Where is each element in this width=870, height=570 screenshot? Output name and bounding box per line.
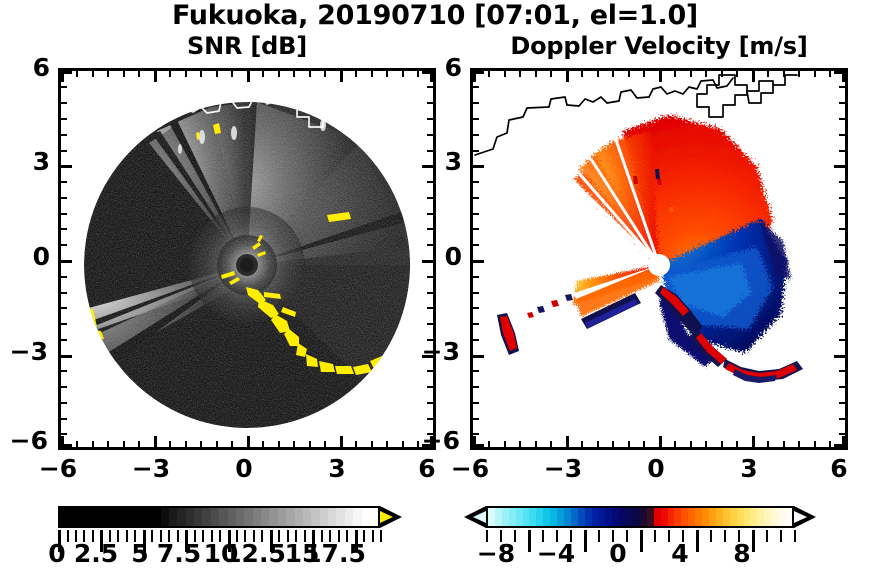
dop-ytick-right-minor <box>839 228 845 230</box>
cbar-dop-label-2: 0 <box>583 540 653 568</box>
dop-ytick-right-minor <box>839 402 845 404</box>
snr-xtick-top-minor <box>138 71 140 77</box>
dop-ytick-right-minor <box>839 276 845 278</box>
snr-xtick-top-major <box>340 71 343 82</box>
snr-ytick-minor <box>61 276 67 278</box>
dop-ytick-major <box>473 355 484 358</box>
dop-ytick-right-minor <box>839 292 845 294</box>
snr-xtick-top-minor <box>402 71 404 77</box>
colorbar-tick-minor <box>380 530 382 542</box>
dop-xtick-top-minor <box>519 71 521 77</box>
snr-ytick-right-minor <box>427 276 433 278</box>
snr-xtick-minor <box>216 441 218 447</box>
snr-xtick-top-major <box>247 71 250 82</box>
dop-xtick-top-major <box>659 71 662 82</box>
snr-ytick-minor <box>61 118 67 120</box>
dop-xtick-top-minor <box>504 71 506 77</box>
snr-ytick-minor <box>61 370 67 372</box>
snr-ytick-minor <box>61 213 67 215</box>
dop-ytick-right-major <box>834 355 845 358</box>
dop-ytick-minor <box>473 386 479 388</box>
dop-ytick-major <box>473 260 484 263</box>
panel-title-snr: SNR [dB] <box>58 33 436 59</box>
snr-ytick-minor <box>61 433 67 435</box>
dop-xtick-minor <box>798 441 800 447</box>
doppler-plot-area <box>473 71 845 447</box>
dop-ytick-minor <box>473 86 479 88</box>
dop-xtick-minor <box>488 441 490 447</box>
snr-ytick-right-minor <box>427 197 433 199</box>
dop-xtick-top-minor <box>674 71 676 77</box>
dop-ytick-right-minor <box>839 244 845 246</box>
dop-xtick-minor <box>504 441 506 447</box>
dop-ytick-minor <box>473 276 479 278</box>
snr-xtick-minor <box>107 441 109 447</box>
snr-xtick-top-minor <box>123 71 125 77</box>
snr-ytick-major <box>61 165 72 168</box>
dop-ylabel-3: −3 <box>412 338 460 366</box>
snr-xtick-top-minor <box>185 71 187 77</box>
snr-ytick-right-minor <box>427 134 433 136</box>
snr-ylabel-2: 0 <box>2 243 50 271</box>
dop-ytick-right-major <box>834 444 845 447</box>
dop-ylabel-2: 0 <box>414 243 462 271</box>
colorbar-tick-minor <box>372 530 374 542</box>
snr-ytick-minor <box>61 244 67 246</box>
dop-ylabel-1: 3 <box>414 148 462 176</box>
snr-ytick-right-minor <box>427 118 433 120</box>
snr-xtick-minor <box>293 441 295 447</box>
figure-canvas: Fukuoka, 20190710 [07:01, el=1.0] SNR [d… <box>0 0 870 570</box>
dop-ytick-minor <box>473 228 479 230</box>
dop-ytick-minor <box>473 118 479 120</box>
snr-ytick-major <box>61 71 72 74</box>
dop-ytick-right-minor <box>839 150 845 152</box>
snr-xtick-top-minor <box>371 71 373 77</box>
snr-ytick-minor <box>61 197 67 199</box>
dop-ytick-minor <box>473 418 479 420</box>
dop-ytick-minor <box>473 402 479 404</box>
snr-xtick-top-minor <box>107 71 109 77</box>
snr-xtick-top-major <box>154 71 157 82</box>
snr-xtick-top-minor <box>293 71 295 77</box>
cbar-snr-label-7: 17.5 <box>300 540 370 568</box>
dop-xtick-top-minor <box>597 71 599 77</box>
snr-ylabel-3: −3 <box>0 338 48 366</box>
snr-xtick-minor <box>262 441 264 447</box>
snr-ytick-minor <box>61 386 67 388</box>
dop-ytick-right-minor <box>839 323 845 325</box>
dop-xtick-top-minor <box>705 71 707 77</box>
dop-xtick-top-minor <box>612 71 614 77</box>
dop-xlabel-0: −6 <box>440 455 500 483</box>
snr-ylabel-1: 3 <box>2 148 50 176</box>
snr-xlabel-3: 3 <box>307 455 367 483</box>
snr-xtick-minor <box>76 441 78 447</box>
snr-ytick-right-minor <box>427 213 433 215</box>
snr-ytick-minor <box>61 402 67 404</box>
snr-xtick-top-minor <box>200 71 202 77</box>
snr-ytick-minor <box>61 418 67 420</box>
snr-xtick-major <box>247 436 250 447</box>
doppler-cone-of-silence <box>648 254 670 276</box>
colorbar-doppler[interactable] <box>464 504 816 530</box>
snr-xtick-minor <box>309 441 311 447</box>
dop-xtick-top-minor <box>721 71 723 77</box>
dop-xtick-top-minor <box>581 71 583 77</box>
snr-ytick-minor <box>61 102 67 104</box>
snr-ytick-minor <box>61 339 67 341</box>
dop-ytick-major <box>473 444 484 447</box>
snr-ytick-right-minor <box>427 181 433 183</box>
snr-xtick-minor <box>278 441 280 447</box>
snr-ytick-major <box>61 444 72 447</box>
dop-ytick-right-minor <box>839 433 845 435</box>
snr-xtick-minor <box>200 441 202 447</box>
dop-ylabel-4: −6 <box>412 427 460 455</box>
dop-xtick-minor <box>535 441 537 447</box>
snr-ytick-right-minor <box>427 102 433 104</box>
dop-xtick-minor <box>612 441 614 447</box>
snr-xtick-minor <box>185 441 187 447</box>
panel-title-doppler: Doppler Velocity [m/s] <box>470 33 848 59</box>
dop-ytick-minor <box>473 244 479 246</box>
snr-xtick-major <box>340 436 343 447</box>
snr-xtick-minor <box>355 441 357 447</box>
dop-ytick-minor <box>473 339 479 341</box>
dop-ytick-right-major <box>834 165 845 168</box>
dop-xtick-major <box>566 436 569 447</box>
dop-xtick-minor <box>628 441 630 447</box>
dop-xtick-top-major <box>566 71 569 82</box>
snr-xtick-minor <box>92 441 94 447</box>
dop-xtick-top-minor <box>628 71 630 77</box>
dop-ytick-right-minor <box>839 213 845 215</box>
dop-xtick-top-minor <box>643 71 645 77</box>
dop-xtick-top-minor <box>535 71 537 77</box>
page-title: Fukuoka, 20190710 [07:01, el=1.0] <box>0 0 870 32</box>
colorbar-snr[interactable] <box>58 504 406 530</box>
snr-ytick-minor <box>61 228 67 230</box>
dop-xtick-top-minor <box>690 71 692 77</box>
dop-ytick-right-major <box>834 71 845 74</box>
dop-xtick-top-minor <box>783 71 785 77</box>
dop-xtick-top-minor <box>550 71 552 77</box>
snr-xtick-minor <box>169 441 171 447</box>
snr-xtick-minor <box>138 441 140 447</box>
dop-xtick-top-minor <box>829 71 831 77</box>
snr-xtick-top-minor <box>278 71 280 77</box>
dop-ylabel-0: 6 <box>414 54 462 82</box>
snr-xtick-top-minor <box>386 71 388 77</box>
dop-xtick-top-minor <box>814 71 816 77</box>
dop-ytick-right-minor <box>839 370 845 372</box>
snr-ytick-minor <box>61 323 67 325</box>
snr-ytick-major <box>61 260 72 263</box>
dop-ytick-right-minor <box>839 102 845 104</box>
dop-xtick-minor <box>767 441 769 447</box>
dop-ytick-right-minor <box>839 197 845 199</box>
dop-ytick-right-minor <box>839 386 845 388</box>
snr-xtick-minor <box>371 441 373 447</box>
dop-ytick-minor <box>473 150 479 152</box>
dop-xtick-minor <box>690 441 692 447</box>
dop-ytick-major <box>473 71 484 74</box>
snr-ytick-right-minor <box>427 386 433 388</box>
cbar-dop-label-4: 8 <box>707 540 777 568</box>
snr-ytick-right-minor <box>427 323 433 325</box>
snr-xtick-top-minor <box>324 71 326 77</box>
dop-xlabel-1: −3 <box>533 455 593 483</box>
dop-ytick-minor <box>473 433 479 435</box>
dop-ytick-minor <box>473 307 479 309</box>
dop-xtick-top-minor <box>736 71 738 77</box>
snr-ytick-right-minor <box>427 418 433 420</box>
dop-xtick-minor <box>519 441 521 447</box>
snr-xlabel-1: −3 <box>121 455 181 483</box>
dop-xtick-minor <box>721 441 723 447</box>
dop-xtick-top-minor <box>798 71 800 77</box>
snr-ytick-minor <box>61 86 67 88</box>
snr-ytick-minor <box>61 150 67 152</box>
snr-xlabel-2: 0 <box>214 455 274 483</box>
snr-ylabel-4: −6 <box>0 427 48 455</box>
snr-xlabel-0: −6 <box>28 455 88 483</box>
snr-xtick-top-minor <box>92 71 94 77</box>
snr-xtick-minor <box>386 441 388 447</box>
snr-xtick-minor <box>123 441 125 447</box>
snr-xtick-top-minor <box>355 71 357 77</box>
dop-ytick-right-minor <box>839 307 845 309</box>
dop-ytick-minor <box>473 102 479 104</box>
dop-ytick-right-minor <box>839 134 845 136</box>
dop-xtick-minor <box>705 441 707 447</box>
dop-xlabel-2: 0 <box>626 455 686 483</box>
dop-xtick-minor <box>829 441 831 447</box>
dop-ytick-right-minor <box>839 181 845 183</box>
dop-xtick-minor <box>643 441 645 447</box>
plot-snr[interactable] <box>58 68 436 450</box>
dop-ytick-minor <box>473 134 479 136</box>
dop-xtick-minor <box>674 441 676 447</box>
snr-xtick-top-minor <box>309 71 311 77</box>
snr-xtick-minor <box>324 441 326 447</box>
snr-ytick-minor <box>61 292 67 294</box>
dop-xtick-minor <box>597 441 599 447</box>
dop-xtick-minor <box>783 441 785 447</box>
dop-xtick-minor <box>550 441 552 447</box>
snr-ytick-right-minor <box>427 292 433 294</box>
snr-xtick-top-minor <box>169 71 171 77</box>
snr-xtick-top-minor <box>262 71 264 77</box>
snr-ytick-minor <box>61 307 67 309</box>
dop-ytick-right-minor <box>839 118 845 120</box>
doppler-radar-scope <box>473 71 845 447</box>
dop-xtick-top-major <box>752 71 755 82</box>
snr-xtick-major <box>154 436 157 447</box>
plot-doppler[interactable] <box>470 68 848 450</box>
dop-xtick-major <box>752 436 755 447</box>
snr-ytick-major <box>61 355 72 358</box>
colorbar-tick-minor <box>780 530 782 542</box>
dop-xlabel-4: 6 <box>809 455 869 483</box>
snr-ytick-right-minor <box>427 228 433 230</box>
snr-ytick-right-minor <box>427 402 433 404</box>
dop-xtick-minor <box>581 441 583 447</box>
snr-xtick-top-minor <box>216 71 218 77</box>
dop-xtick-top-minor <box>488 71 490 77</box>
snr-xtick-minor <box>231 441 233 447</box>
dop-xtick-major <box>659 436 662 447</box>
dop-xtick-minor <box>736 441 738 447</box>
dop-xtick-minor <box>814 441 816 447</box>
dop-ytick-major <box>473 165 484 168</box>
dop-xtick-top-minor <box>767 71 769 77</box>
dop-xlabel-3: 3 <box>719 455 779 483</box>
dop-ytick-minor <box>473 323 479 325</box>
dop-ytick-minor <box>473 213 479 215</box>
cbar-dop-label-1: −4 <box>521 540 591 568</box>
snr-ytick-minor <box>61 134 67 136</box>
dop-ytick-right-minor <box>839 339 845 341</box>
dop-ytick-minor <box>473 181 479 183</box>
snr-ytick-right-minor <box>427 307 433 309</box>
snr-xtick-top-minor <box>231 71 233 77</box>
snr-ytick-right-minor <box>427 86 433 88</box>
colorbar-tick-minor <box>794 530 796 542</box>
snr-ylabel-0: 6 <box>2 54 50 82</box>
dop-ytick-right-major <box>834 260 845 263</box>
snr-plot-area <box>61 71 433 447</box>
dop-ytick-minor <box>473 370 479 372</box>
dop-ytick-minor <box>473 292 479 294</box>
snr-ytick-minor <box>61 181 67 183</box>
dop-ytick-right-minor <box>839 86 845 88</box>
cbar-dop-label-3: 4 <box>645 540 715 568</box>
dop-ytick-right-minor <box>839 418 845 420</box>
snr-radar-scope <box>61 71 433 447</box>
snr-xtick-top-minor <box>76 71 78 77</box>
snr-ytick-right-minor <box>427 370 433 372</box>
snr-xtick-minor <box>402 441 404 447</box>
dop-ytick-minor <box>473 197 479 199</box>
